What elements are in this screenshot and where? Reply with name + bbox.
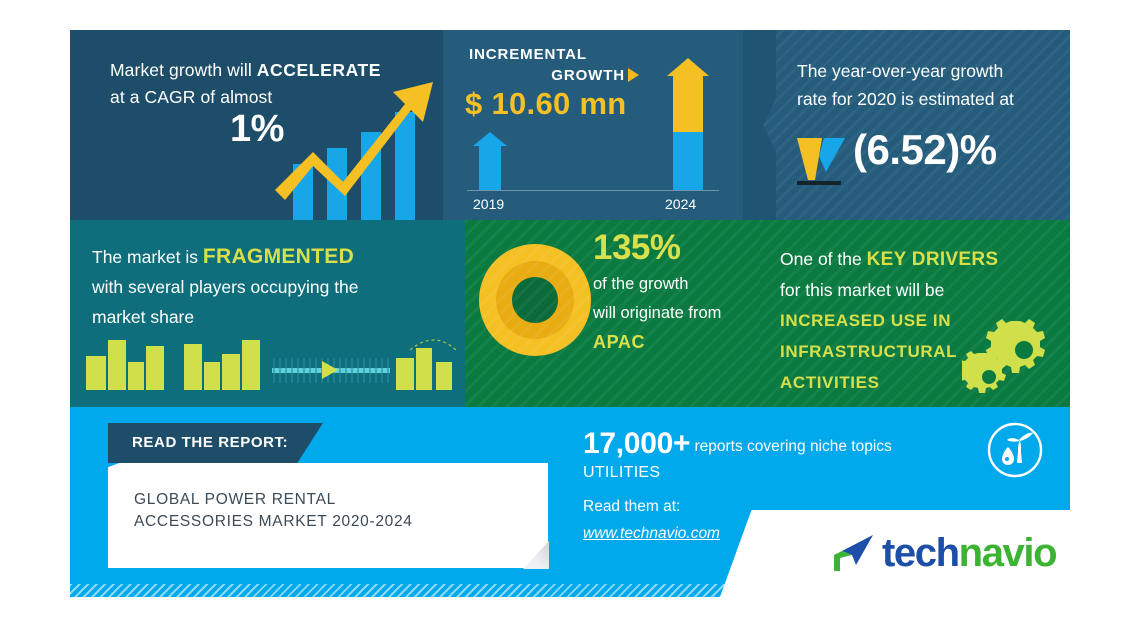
fragmented-highlight: FRAGMENTED — [203, 245, 354, 268]
drivers-lead: One of the — [780, 249, 867, 269]
yoy-line2: rate for 2020 is estimated at — [797, 89, 1014, 109]
driver-line3: ACTIVITIES — [780, 373, 880, 392]
apac-text: 135% of the growth will originate from A… — [593, 226, 760, 357]
driver-line1: INCREASED USE IN — [780, 311, 951, 330]
infographic-board: Market growth will ACCELERATE at a CAGR … — [70, 30, 1070, 597]
donut-core — [512, 277, 558, 323]
panel-yoy-growth: The year-over-year growth rate for 2020 … — [743, 30, 1070, 220]
fragmented-line2: with several players occupying the — [92, 277, 359, 297]
down-funnel-icon — [795, 136, 847, 186]
reports-caption: reports covering niche topics — [695, 438, 892, 455]
city-cluster-icon — [84, 328, 464, 398]
logo-tech: tech — [882, 531, 959, 575]
chevron-divider-icon — [743, 30, 776, 220]
incremental-growth-value: $ 10.60 mn — [465, 86, 627, 122]
drivers-highlight: KEY DRIVERS — [867, 249, 999, 270]
market-growth-line2: at a CAGR of almost — [110, 87, 272, 107]
fragmented-line3: market share — [92, 307, 194, 327]
gears-icon — [962, 313, 1052, 393]
technavio-logo[interactable]: technavio — [830, 525, 1070, 581]
panel-incremental-growth: INCREMENTAL GROWTH $ 10.60 mn 2019 2024 — [443, 30, 743, 220]
middle-row: The market is FRAGMENTED with several pl… — [70, 220, 1070, 407]
apac-percent: 135% — [593, 226, 760, 270]
donut-inner-ring — [496, 261, 574, 339]
logo-navio: navio — [959, 531, 1056, 575]
panel-key-drivers: One of the KEY DRIVERS for this market w… — [760, 220, 1070, 407]
read-the-report-label: READ THE REPORT: — [132, 434, 288, 451]
play-triangle-icon — [628, 68, 639, 82]
fragmented-text: The market is FRAGMENTED with several pl… — [92, 242, 432, 332]
infographic-canvas: Market growth will ACCELERATE at a CAGR … — [0, 0, 1140, 627]
yoy-text: The year-over-year growth rate for 2020 … — [797, 57, 1047, 113]
panel-apac: 135% of the growth will originate from A… — [465, 220, 760, 407]
report-title-line1: GLOBAL POWER RENTAL — [134, 491, 336, 508]
technavio-arrow-icon — [830, 531, 876, 575]
incremental-growth-label: INCREMENTAL GROWTH — [469, 44, 639, 86]
incremental-label-line2: GROWTH — [551, 67, 625, 84]
fragmented-lead: The market is — [92, 247, 203, 267]
apac-line1: of the growth — [593, 275, 688, 293]
technavio-wordmark: technavio — [882, 531, 1056, 576]
apac-region: APAC — [593, 328, 760, 357]
reports-count: 17,000+ — [583, 427, 690, 460]
yoy-line1: The year-over-year growth — [797, 61, 1003, 81]
market-growth-lead: Market growth will — [110, 60, 257, 80]
category-label: UTILITIES — [583, 460, 983, 486]
footer-bar: READ THE REPORT: GLOBAL POWER RENTAL ACC… — [70, 407, 1070, 597]
driver-line2: INFRASTRUCTURAL — [780, 342, 957, 361]
report-title-line2: ACCESSORIES MARKET 2020-2024 — [134, 513, 413, 530]
bar-2019 — [479, 145, 501, 190]
read-the-report-tab: READ THE REPORT: — [108, 423, 323, 463]
yoy-value: (6.52)% — [853, 126, 997, 174]
apac-line2: will originate from — [593, 304, 721, 322]
donut-chart-icon — [479, 244, 591, 356]
top-row: Market growth will ACCELERATE at a CAGR … — [70, 30, 1070, 220]
panel-fragmented: The market is FRAGMENTED with several pl… — [70, 220, 465, 407]
bar-2024 — [673, 75, 703, 190]
bar-2024-increment — [673, 75, 703, 132]
drivers-line2: for this market will be — [780, 280, 944, 300]
axis-label-2019: 2019 — [473, 196, 504, 212]
report-title: GLOBAL POWER RENTAL ACCESSORIES MARKET 2… — [134, 489, 413, 533]
chart-axis-line — [467, 190, 719, 191]
axis-label-2024: 2024 — [665, 196, 696, 212]
reports-line: 17,000+ reports covering niche topics — [583, 431, 983, 460]
report-title-card[interactable]: GLOBAL POWER RENTAL ACCESSORIES MARKET 2… — [108, 463, 548, 568]
wind-turbine-badge-icon — [986, 421, 1044, 479]
incremental-label-line1: INCREMENTAL — [469, 44, 639, 65]
growth-arrow-chart — [265, 60, 443, 220]
footer-stripe-band — [70, 584, 1070, 597]
panel-market-growth: Market growth will ACCELERATE at a CAGR … — [70, 30, 443, 220]
technavio-url-link[interactable]: www.technavio.com — [583, 525, 720, 542]
